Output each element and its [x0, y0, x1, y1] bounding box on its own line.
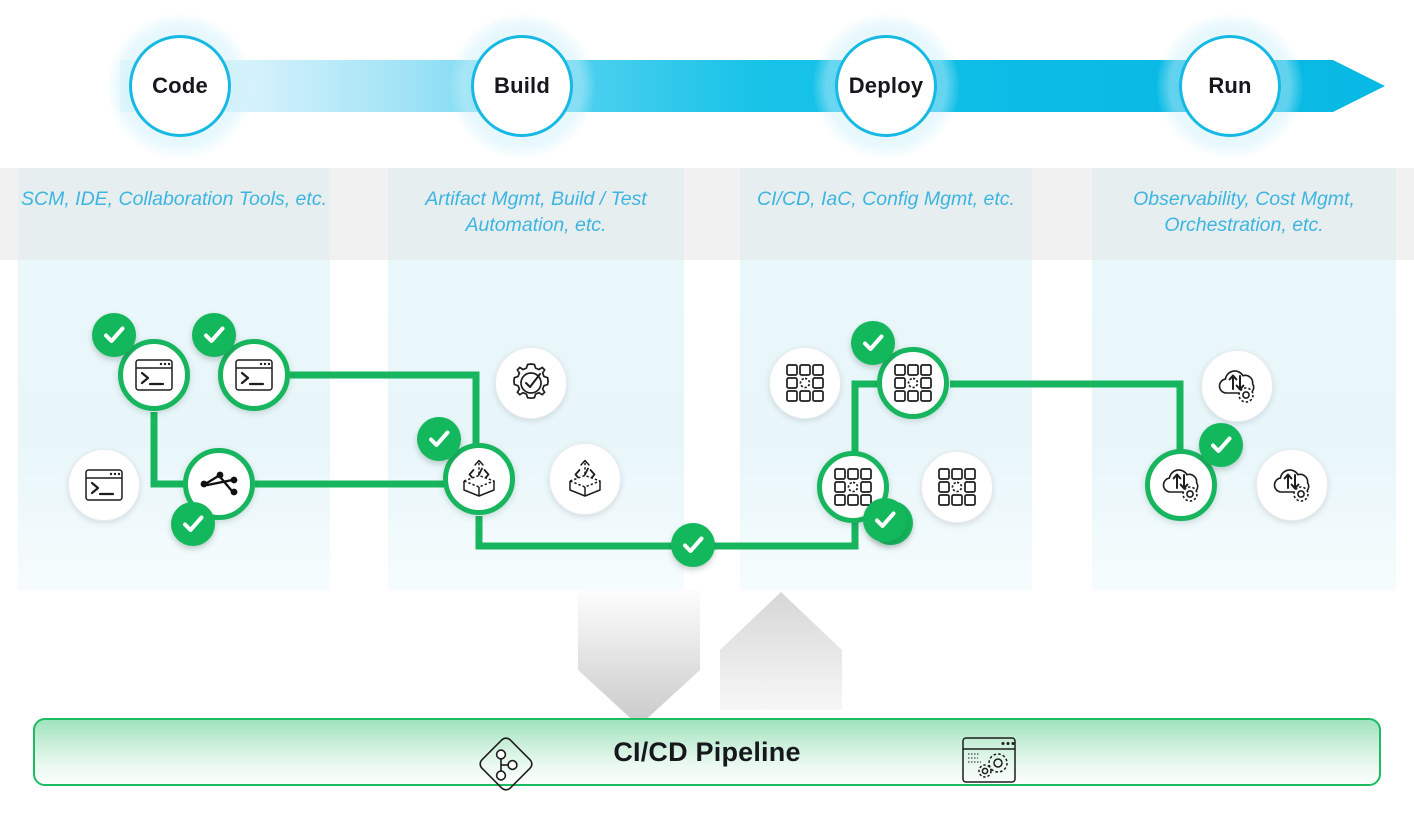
node-deploy-grid-4[interactable] — [921, 451, 993, 523]
stage-circle: Build — [471, 35, 573, 137]
pipeline-stage-code[interactable]: Code — [129, 35, 231, 137]
check-mark-icon — [680, 532, 706, 558]
grid-container-icon — [784, 362, 826, 404]
node-run-cloud-3[interactable] — [1256, 449, 1328, 521]
pipeline-stage-deploy[interactable]: Deploy — [835, 35, 937, 137]
column-caption-build: Artifact Mgmt, Build / Test Automation, … — [388, 186, 684, 246]
node-build-package-2[interactable] — [549, 443, 621, 515]
check-mark-icon — [180, 511, 206, 537]
pipeline-stage-build[interactable]: Build — [471, 35, 573, 137]
terminal-icon — [233, 357, 275, 393]
check-mark-icon — [101, 322, 127, 348]
check-badge-build-package-1 — [417, 417, 461, 461]
terminal-icon — [83, 467, 125, 503]
check-mark-icon — [872, 507, 898, 533]
check-mark-icon — [426, 426, 452, 452]
package-code-icon — [562, 457, 608, 501]
stage-label: Deploy — [849, 73, 924, 99]
column-caption-code: SCM, IDE, Collaboration Tools, etc. — [18, 186, 330, 246]
column-caption-run: Observability, Cost Mgmt, Orchestration,… — [1092, 186, 1396, 246]
diagram-canvas: Code Build Deploy Run SCM, IDE, Collabor… — [0, 0, 1414, 814]
check-mark-icon — [860, 330, 886, 356]
branch-icon — [199, 467, 239, 501]
check-badge-code-branch — [171, 502, 215, 546]
check-mark-icon — [201, 322, 227, 348]
node-build-gear-test[interactable] — [495, 347, 567, 419]
cicd-pipeline-bar[interactable]: CI/CD Pipeline — [33, 718, 1381, 786]
browser-gears-icon — [960, 735, 1018, 790]
gear-check-icon — [509, 361, 553, 405]
stage-circle: Run — [1179, 35, 1281, 137]
stage-label: Run — [1208, 73, 1251, 99]
terminal-icon — [133, 357, 175, 393]
stage-circle: Deploy — [835, 35, 937, 137]
package-code-icon — [456, 457, 502, 501]
node-deploy-grid-1[interactable] — [769, 347, 841, 419]
stage-label: Build — [494, 73, 550, 99]
cloud-gear-icon — [1214, 366, 1260, 406]
grid-container-icon — [832, 466, 874, 508]
check-badge-code-terminal-1 — [92, 313, 136, 357]
column-caption-deploy: CI/CD, IaC, Config Mgmt, etc. — [740, 186, 1032, 246]
check-badge-deploy-left — [863, 498, 907, 542]
node-code-terminal-3[interactable] — [68, 449, 140, 521]
check-badge-deploy-grid-2 — [851, 321, 895, 365]
cloud-gear-icon — [1158, 465, 1204, 505]
pipeline-stage-run[interactable]: Run — [1179, 35, 1281, 137]
stage-circle: Code — [129, 35, 231, 137]
check-badge-code-terminal-2 — [192, 313, 236, 357]
check-badge-midline — [671, 523, 715, 567]
stage-label: Code — [152, 73, 208, 99]
column-body-code — [18, 260, 330, 590]
flow-arrow-up-icon — [720, 592, 842, 710]
node-run-cloud-1[interactable] — [1201, 350, 1273, 422]
check-mark-icon — [1208, 432, 1234, 458]
column-body-run — [1092, 260, 1396, 590]
check-badge-run-cloud-2 — [1199, 423, 1243, 467]
cloud-gear-icon — [1269, 465, 1315, 505]
grid-container-icon — [936, 466, 978, 508]
grid-container-icon — [892, 362, 934, 404]
flow-arrow-down-icon — [578, 590, 700, 726]
cicd-bar-title: CI/CD Pipeline — [35, 737, 1379, 768]
